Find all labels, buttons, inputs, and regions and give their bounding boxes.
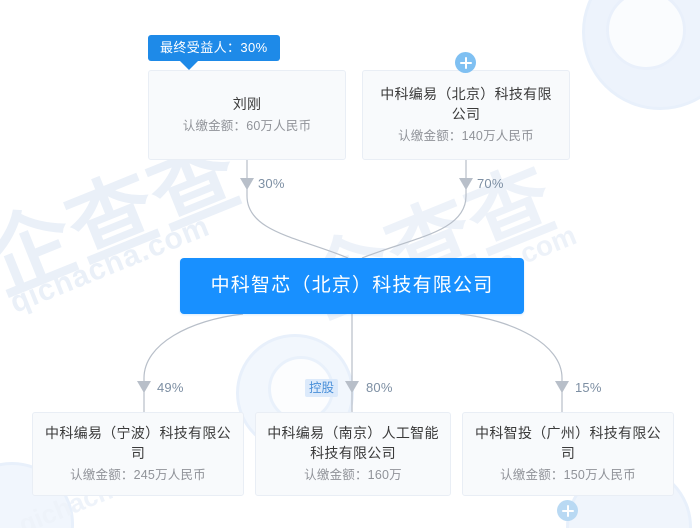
plus-circle-icon-expand-shareholder-1[interactable] xyxy=(455,52,476,73)
shareholder-node-liu-gang[interactable]: 刘刚 认缴金额：60万人民币 xyxy=(148,70,346,160)
edge-shareholder-0 xyxy=(247,160,348,258)
root-company-node[interactable]: 中科智芯（北京）科技有限公司 xyxy=(180,258,524,314)
edge-label-subsidiary-0: 49% xyxy=(157,380,184,396)
shareholder-name: 中科编易（北京）科技有限公司 xyxy=(377,84,555,124)
badge-ultimate-beneficiary: 最终受益人：30% xyxy=(148,35,280,61)
plus-circle-icon-expand-subsidiary-2[interactable] xyxy=(557,500,578,521)
arrowhead-shareholder-0 xyxy=(240,178,254,190)
badge-tail xyxy=(180,61,198,70)
equity-structure-diagram: 企查查 qichacha.com 企查查 qichacha.com qichac… xyxy=(0,0,700,528)
control-stake-tag: 控股 xyxy=(305,379,338,397)
subsidiary-node-zhongke-bianyi-nanjing[interactable]: 中科编易（南京）人工智能科技有限公司 认缴金额：160万 xyxy=(255,412,451,496)
subsidiary-name: 中科智投（广州）科技有限公司 xyxy=(473,423,663,463)
shareholder-amount: 认缴金额：140万人民币 xyxy=(398,127,534,146)
subsidiary-node-zhongke-bianyi-ningbo[interactable]: 中科编易（宁波）科技有限公司 认缴金额：245万人民币 xyxy=(32,412,244,496)
root-company-name: 中科智芯（北京）科技有限公司 xyxy=(211,273,494,299)
arrowhead-shareholder-1 xyxy=(459,178,473,190)
edge-label-subsidiary-1: 80% xyxy=(366,380,393,396)
edge-subsidiary-0 xyxy=(144,314,243,412)
shareholder-name: 刘刚 xyxy=(233,94,262,114)
shareholder-node-zhongke-bianyi-beijing[interactable]: 中科编易（北京）科技有限公司 认缴金额：140万人民币 xyxy=(362,70,570,160)
subsidiary-amount: 认缴金额：160万 xyxy=(304,466,402,485)
watermark-logo-top-right xyxy=(582,0,700,110)
arrowhead-subsidiary-2 xyxy=(555,381,569,393)
subsidiary-name: 中科编易（宁波）科技有限公司 xyxy=(43,423,233,463)
subsidiary-name: 中科编易（南京）人工智能科技有限公司 xyxy=(266,423,440,463)
arrowhead-subsidiary-1 xyxy=(345,381,359,393)
arrowhead-subsidiary-0 xyxy=(137,381,151,393)
subsidiary-amount: 认缴金额：245万人民币 xyxy=(70,466,206,485)
edge-label-subsidiary-2: 15% xyxy=(575,380,602,396)
edge-label-shareholder-1: 70% xyxy=(477,176,504,192)
watermark-logo-top-right-inner xyxy=(606,0,686,70)
subsidiary-amount: 认缴金额：150万人民币 xyxy=(500,466,636,485)
subsidiary-node-zhongke-zhitou-guangzhou[interactable]: 中科智投（广州）科技有限公司 认缴金额：150万人民币 xyxy=(462,412,674,496)
edge-label-shareholder-0: 30% xyxy=(258,176,285,192)
edge-shareholder-1 xyxy=(362,160,466,258)
edge-subsidiary-2 xyxy=(460,314,562,412)
shareholder-amount: 认缴金额：60万人民币 xyxy=(183,117,312,136)
